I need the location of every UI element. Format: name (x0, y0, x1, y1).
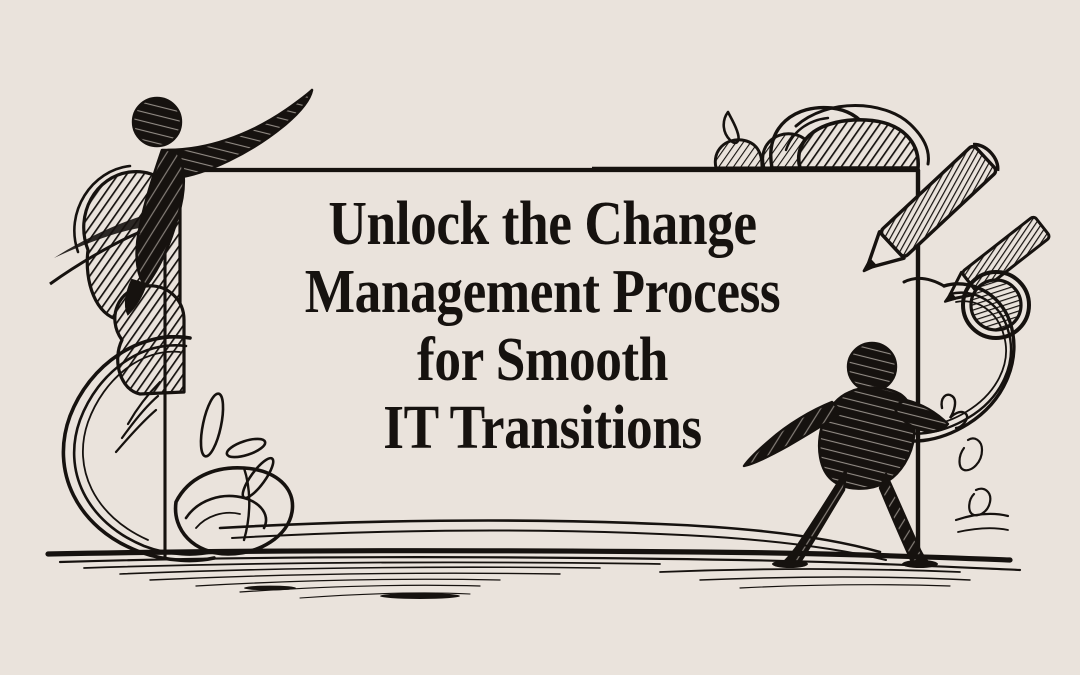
hatched-circle (963, 272, 1029, 338)
illustration-artwork (0, 0, 1080, 675)
poster-canvas: Unlock the Change Management Process for… (0, 0, 1080, 675)
